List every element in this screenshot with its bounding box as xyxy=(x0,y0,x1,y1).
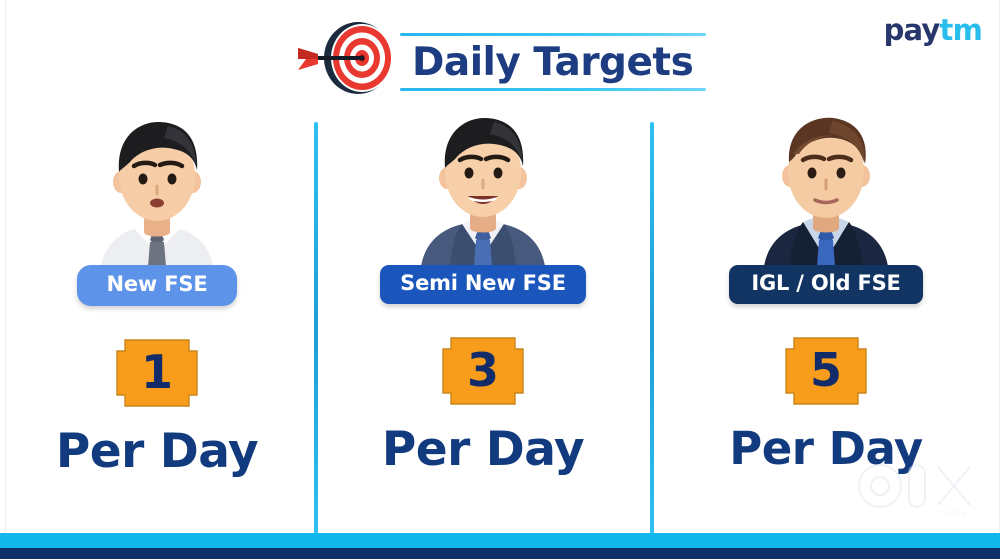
title-rule-bottom xyxy=(400,88,706,91)
column-semi-new-fse: Semi New FSE 3 Per Day xyxy=(314,110,652,533)
role-badge-new-fse: New FSE xyxy=(77,265,238,306)
slide-header: paytm xyxy=(0,0,1000,110)
role-badge-label: New FSE xyxy=(107,272,208,296)
role-badge-label: Semi New FSE xyxy=(400,271,566,295)
target-number: 5 xyxy=(810,347,842,396)
columns-container: New FSE 1 Per Day xyxy=(0,110,1000,533)
paytm-logo-pay-text: pay xyxy=(884,13,940,47)
per-day-label-igl-old-fse: Per Day xyxy=(729,426,923,471)
title-rule-top xyxy=(400,33,706,36)
footer-cyan-bar xyxy=(0,533,1000,548)
page-title: Daily Targets xyxy=(412,40,693,85)
target-number: 1 xyxy=(141,349,173,398)
column-new-fse: New FSE 1 Per Day xyxy=(0,110,314,533)
footer-navy-bar xyxy=(0,548,1000,559)
target-number: 3 xyxy=(467,347,499,396)
paytm-logo: paytm xyxy=(884,16,982,45)
role-badge-label: IGL / Old FSE xyxy=(751,271,900,295)
avatar-semi-new-fse xyxy=(398,114,568,279)
role-badge-semi-new-fse: Semi New FSE xyxy=(380,265,586,304)
target-number-plaque-semi-new-fse: 3 xyxy=(441,336,525,406)
per-day-label-new-fse: Per Day xyxy=(56,428,258,475)
paytm-logo-tm-text: tm xyxy=(940,13,982,47)
target-number-plaque-new-fse: 1 xyxy=(115,338,199,408)
title-block: Daily Targets xyxy=(296,18,716,98)
role-badge-igl-old-fse: IGL / Old FSE xyxy=(729,265,922,304)
column-igl-old-fse: IGL / Old FSE 5 Per Day xyxy=(652,110,1000,533)
per-day-label-semi-new-fse: Per Day xyxy=(382,426,584,473)
target-number-plaque-igl-old-fse: 5 xyxy=(784,336,868,406)
slide-canvas: paytm xyxy=(0,0,1000,559)
target-bullseye-arrow-icon xyxy=(296,20,404,96)
avatar-igl-old-fse xyxy=(741,114,911,279)
avatar-new-fse xyxy=(72,114,242,279)
